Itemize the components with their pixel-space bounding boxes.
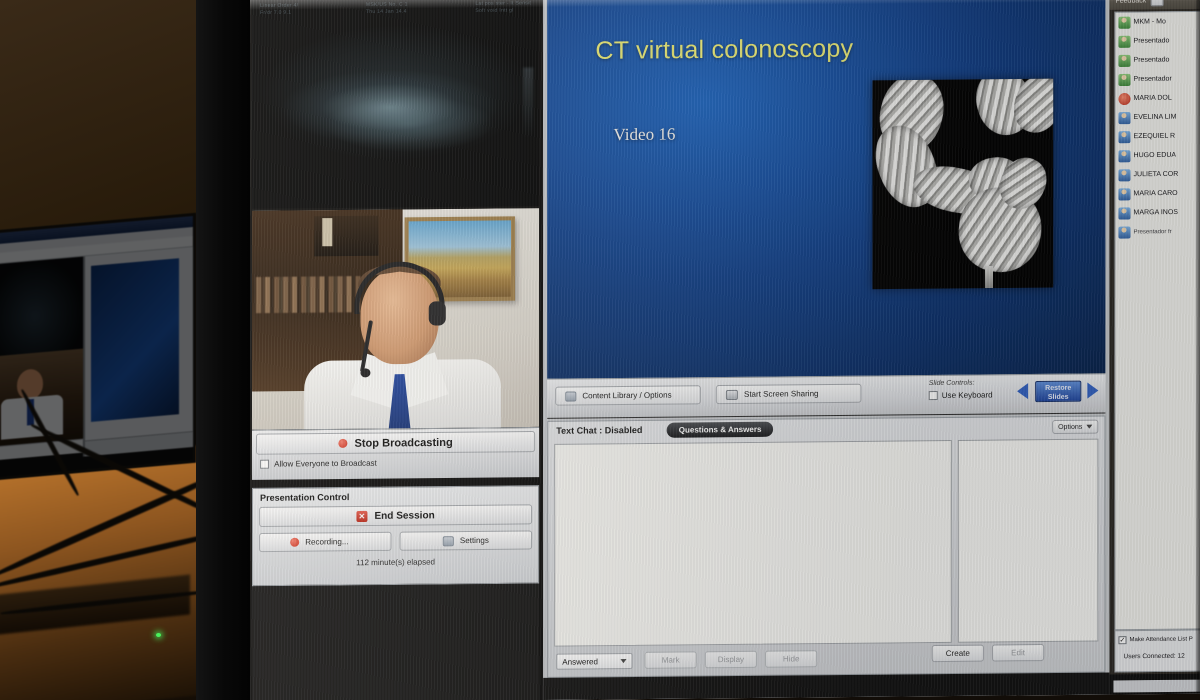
center-panel: CT virtual colonoscopy Video 16 Content … bbox=[543, 0, 1109, 700]
right-panel: Feedback MKM - MoPresentadoPresentadoPre… bbox=[1109, 0, 1200, 695]
elapsed-time-label: 112 minute(s) elapsed bbox=[253, 556, 538, 568]
secondary-monitor-body bbox=[0, 247, 193, 465]
recording-label: Recording... bbox=[305, 537, 348, 546]
attendee-presenter-icon bbox=[1118, 35, 1130, 47]
room-background bbox=[0, 0, 262, 700]
attendee-name: JULIETA COR bbox=[1134, 171, 1179, 178]
ultrasound-scale-bar bbox=[523, 68, 533, 138]
chevron-down-icon bbox=[1086, 425, 1092, 429]
close-icon: ✕ bbox=[356, 510, 367, 521]
checkbox-icon[interactable] bbox=[929, 391, 938, 400]
attendee-host-icon bbox=[1118, 131, 1130, 143]
slide-controls-label: Slide Controls: bbox=[929, 380, 975, 387]
attendee-name: EZEQUIEL R bbox=[1134, 133, 1176, 140]
secondary-monitor-bottom-bar bbox=[85, 431, 193, 456]
desk-surface bbox=[0, 443, 220, 700]
webinar-application-screen: Linear Order 4/ Fr/dr 7.0 9.1 MSK/US No.… bbox=[250, 0, 1200, 700]
qa-lists bbox=[554, 439, 1098, 647]
presenter-webcam-feed[interactable] bbox=[252, 208, 539, 430]
attendee-name: Presentador fr bbox=[1134, 229, 1172, 235]
qa-options-label: Options bbox=[1058, 420, 1082, 433]
qa-display-button[interactable]: Display bbox=[705, 651, 757, 669]
settings-button[interactable]: Settings bbox=[400, 530, 533, 550]
allow-everyone-to-broadcast-checkbox[interactable]: Allow Everyone to Broadcast bbox=[260, 459, 377, 469]
slide-title: CT virtual colonoscopy bbox=[595, 34, 853, 66]
qa-filter-value: Answered bbox=[562, 654, 598, 669]
attendee-name: Presentador bbox=[1134, 75, 1172, 82]
left-panel: Linear Order 4/ Fr/dr 7.0 9.1 MSK/US No.… bbox=[250, 0, 543, 700]
device-power-led bbox=[156, 633, 161, 637]
content-library-label: Content Library / Options bbox=[582, 391, 671, 401]
text-chat-status: Text Chat : Disabled bbox=[556, 425, 642, 436]
tab-questions-and-answers[interactable]: Questions & Answers bbox=[667, 422, 774, 438]
attendee-row[interactable]: MARGA INOS bbox=[1115, 203, 1200, 223]
attendee-presenter-icon bbox=[1118, 16, 1130, 28]
attendee-name: MKM - Mo bbox=[1134, 18, 1166, 25]
allow-everyone-label: Allow Everyone to Broadcast bbox=[274, 459, 377, 469]
colon-rectum-stem bbox=[985, 266, 993, 288]
webcam-shelf-box-light bbox=[322, 218, 332, 246]
attendee-host-icon bbox=[1118, 150, 1130, 162]
record-dot-icon bbox=[290, 538, 299, 547]
ultrasound-video-feed[interactable]: Linear Order 4/ Fr/dr 7.0 9.1 MSK/US No.… bbox=[252, 0, 539, 209]
chevron-down-icon bbox=[620, 659, 626, 663]
attendee-footer: ✓ Make Attendance List P Users Connected… bbox=[1114, 629, 1200, 672]
attendee-row[interactable]: MARIA DOL bbox=[1115, 88, 1200, 108]
make-attendance-list-label: Make Attendance List P bbox=[1130, 637, 1193, 644]
secondary-monitor-slide-column bbox=[85, 247, 193, 456]
left-panel-filler bbox=[252, 584, 539, 700]
attendee-row[interactable]: EVELINA LIM bbox=[1115, 107, 1200, 127]
attendee-row[interactable]: Presentado bbox=[1115, 31, 1200, 51]
presentation-control-title: Presentation Control bbox=[260, 492, 349, 503]
headset-earcup bbox=[429, 301, 446, 325]
attendee-host-icon bbox=[1118, 188, 1130, 200]
next-slide-icon[interactable] bbox=[1087, 382, 1098, 398]
qa-hide-button[interactable]: Hide bbox=[765, 650, 817, 668]
stop-broadcasting-button[interactable]: Stop Broadcasting bbox=[256, 431, 535, 455]
attendee-name: HUGO EDUA bbox=[1134, 152, 1177, 159]
attendee-row[interactable]: Presentado bbox=[1115, 50, 1200, 70]
gear-icon bbox=[443, 536, 454, 546]
make-attendance-list-checkbox[interactable]: ✓ Make Attendance List P bbox=[1118, 636, 1192, 645]
microphone-tip bbox=[360, 368, 370, 377]
colon-3d-reconstruction-image bbox=[872, 79, 1053, 290]
screen-right-edge bbox=[1196, 0, 1200, 694]
use-keyboard-label: Use Keyboard bbox=[942, 390, 993, 400]
stop-broadcasting-label: Stop Broadcasting bbox=[355, 436, 453, 449]
end-session-button[interactable]: ✕ End Session bbox=[259, 504, 532, 527]
qa-options-button[interactable]: Options bbox=[1052, 420, 1098, 435]
attendee-presenter-icon bbox=[1118, 54, 1130, 66]
checkbox-icon[interactable] bbox=[260, 460, 269, 469]
qa-mark-button[interactable]: Mark bbox=[645, 651, 697, 669]
monitor-icon bbox=[726, 389, 738, 399]
attendee-name: Presentado bbox=[1134, 37, 1170, 44]
broadcast-controls: Stop Broadcasting Allow Everyone to Broa… bbox=[252, 427, 539, 480]
restore-slides-button[interactable]: Restore Slides bbox=[1035, 381, 1081, 403]
attendee-host-icon bbox=[1118, 112, 1130, 124]
use-keyboard-checkbox[interactable]: Use Keyboard bbox=[929, 390, 993, 400]
attendee-speaking-icon bbox=[1118, 92, 1130, 104]
secondary-monitor bbox=[0, 213, 196, 482]
secondary-monitor-ultrasound bbox=[0, 257, 83, 357]
attendee-name: MARGA INOS bbox=[1134, 209, 1179, 216]
folder-icon bbox=[565, 391, 576, 401]
attendee-name: MARIA DOL bbox=[1134, 95, 1172, 102]
attendee-name: MARIA CARO bbox=[1134, 190, 1178, 197]
center-panel-filler bbox=[543, 672, 1109, 700]
right-panel-bottom-bar bbox=[1113, 680, 1200, 693]
previous-slide-icon[interactable] bbox=[1017, 383, 1028, 399]
attendee-presenter-icon bbox=[1118, 73, 1130, 85]
qa-tab-row: Text Chat : Disabled Questions & Answers… bbox=[548, 416, 1104, 441]
attendee-host-icon bbox=[1118, 169, 1130, 181]
content-library-options-button[interactable]: Content Library / Options bbox=[555, 385, 701, 405]
right-panel-bottom-strip bbox=[1109, 674, 1200, 695]
qa-detail-list[interactable] bbox=[958, 439, 1098, 643]
qa-question-list[interactable] bbox=[554, 440, 952, 647]
start-screen-sharing-button[interactable]: Start Screen Sharing bbox=[716, 384, 862, 404]
attendee-host-icon bbox=[1118, 226, 1130, 238]
presentation-control-panel: Presentation Control ✕ End Session Recor… bbox=[252, 485, 539, 586]
attendee-row[interactable]: JULIETA COR bbox=[1115, 165, 1200, 185]
checkbox-checked-icon[interactable]: ✓ bbox=[1118, 636, 1126, 644]
attendee-list[interactable]: MKM - MoPresentadoPresentadoPresentadorM… bbox=[1114, 11, 1200, 630]
users-connected-label: Users Connected: 12 bbox=[1123, 653, 1184, 661]
slide-controls-bar: Content Library / Options Start Screen S… bbox=[547, 373, 1105, 419]
ultrasound-image bbox=[252, 0, 539, 209]
attendee-row[interactable]: MARIA CARO bbox=[1115, 184, 1200, 204]
attendee-row[interactable]: Presentador bbox=[1115, 69, 1200, 89]
attendee-row[interactable]: Presentador fr bbox=[1115, 222, 1200, 242]
attendee-name: Presentado bbox=[1134, 56, 1170, 63]
end-session-label: End Session bbox=[374, 510, 434, 522]
attendee-row[interactable]: EZEQUIEL R bbox=[1115, 126, 1200, 146]
slide-viewer[interactable]: CT virtual colonoscopy Video 16 bbox=[547, 0, 1105, 379]
attendee-row[interactable]: HUGO EDUA bbox=[1115, 145, 1200, 165]
recording-button[interactable]: Recording... bbox=[259, 532, 392, 552]
webcam-books bbox=[256, 276, 360, 313]
settings-label: Settings bbox=[460, 536, 489, 545]
qa-edit-button[interactable]: Edit bbox=[992, 644, 1044, 662]
start-screen-sharing-label: Start Screen Sharing bbox=[744, 389, 819, 399]
record-dot-icon bbox=[338, 439, 347, 448]
attendee-name: EVELINA LIM bbox=[1134, 114, 1177, 121]
slide-subtitle: Video 16 bbox=[613, 124, 675, 145]
attendee-row[interactable]: MKM - Mo bbox=[1115, 12, 1200, 32]
qa-filter-select[interactable]: Answered bbox=[556, 653, 632, 670]
secondary-monitor-slide bbox=[91, 258, 179, 422]
attendee-host-icon bbox=[1118, 207, 1130, 219]
questions-and-answers-panel: Text Chat : Disabled Questions & Answers… bbox=[547, 415, 1105, 677]
qa-create-button[interactable]: Create bbox=[932, 645, 984, 663]
qa-bottom-toolbar: Answered Mark Display Hide Create Edit bbox=[548, 641, 1104, 676]
